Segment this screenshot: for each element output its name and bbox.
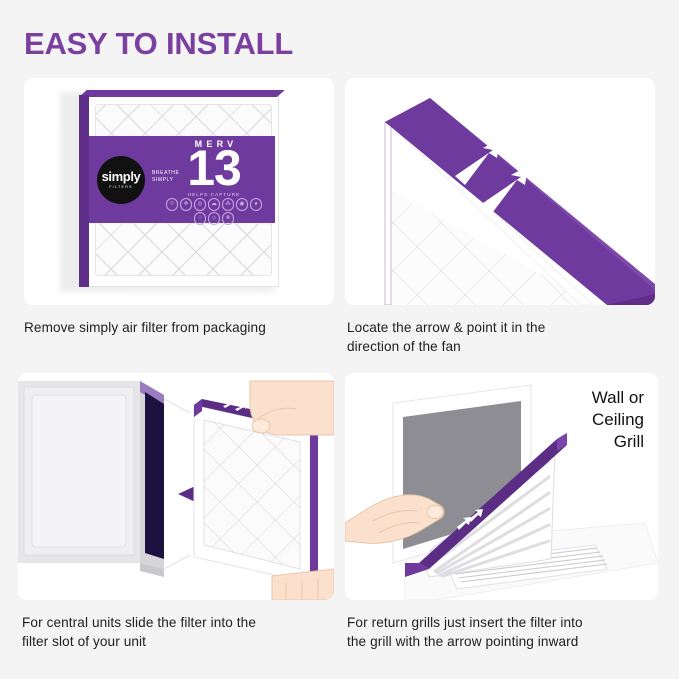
step-4-image-card: Wall or Ceiling Grill (345, 373, 658, 600)
grill-annotation-label: Wall or Ceiling Grill (592, 387, 644, 453)
virus-icon: ☉ (166, 198, 179, 211)
filter-slot-opening (145, 392, 164, 559)
capture-icon-row: ☉ ❄ ◎ ☁ ⁂ ◉ ● ♢ ◇ ❉ (165, 198, 263, 225)
step-3-image-card (18, 373, 334, 600)
thumb-tip (252, 419, 270, 433)
merv-rating-block: MERV 13 (170, 139, 258, 190)
box-purple-label: simply FILTERS BREATHE SIMPLY MERV 13 HE… (89, 136, 275, 223)
guide-line-top (164, 399, 190, 413)
thumb-tip (427, 506, 443, 519)
arrow-edge-illustration (345, 78, 655, 305)
step-1-image-card: simply FILTERS BREATHE SIMPLY MERV 13 HE… (24, 78, 334, 305)
box-top-edge (79, 90, 285, 97)
brand-name: simply (102, 171, 141, 183)
hand-top (250, 381, 334, 435)
step-2-caption: Locate the arrow & point it in the direc… (347, 318, 647, 356)
mold-icon: ◉ (236, 198, 249, 211)
box-spine (79, 95, 89, 287)
product-box-illustration: simply FILTERS BREATHE SIMPLY MERV 13 HE… (24, 78, 334, 305)
bacteria-icon: ◎ (194, 198, 207, 211)
allergen-icon: ❉ (222, 212, 235, 225)
pollen-icon: ❄ (180, 198, 193, 211)
filter-purple-side (310, 423, 318, 583)
step-4-caption: For return grills just insert the filter… (347, 613, 652, 651)
smog-icon: ♢ (194, 212, 207, 225)
hvac-unit (18, 381, 164, 577)
pet-dander-icon: ● (250, 198, 263, 211)
dust-icon: ⁂ (222, 198, 235, 211)
step-3-caption: For central units slide the filter into … (22, 613, 322, 651)
smoke-icon: ☁ (208, 198, 221, 211)
merv-value: 13 (170, 147, 258, 190)
guide-line-bottom (164, 555, 190, 569)
page-title: EASY TO INSTALL (24, 26, 293, 62)
infographic-page: EASY TO INSTALL simply FILTERS BREATHE S… (0, 0, 679, 679)
slide-into-unit-illustration (18, 373, 334, 600)
brand-logo-badge: simply FILTERS (97, 156, 145, 204)
helps-capture-label: HELPS CAPTURE (172, 192, 256, 197)
step-1-caption: Remove simply air filter from packaging (24, 318, 334, 337)
brand-subtitle: FILTERS (109, 184, 133, 190)
frame-white-edge (385, 122, 391, 305)
step-2-image-card (345, 78, 655, 305)
lint-icon: ◇ (208, 212, 221, 225)
